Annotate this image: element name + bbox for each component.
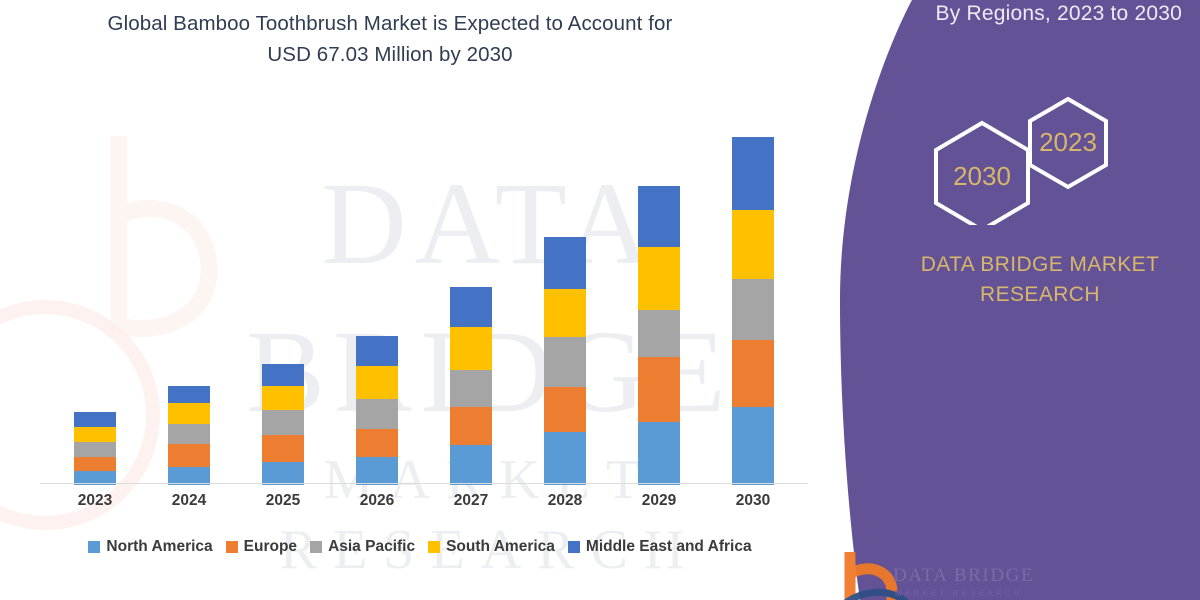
legend-swatch-icon xyxy=(568,541,580,553)
hexagon-logo-group: 2023 2030 xyxy=(920,95,1140,225)
x-axis-label-2027: 2027 xyxy=(424,492,518,510)
legend-label: North America xyxy=(106,538,212,556)
bar-segment[interactable] xyxy=(638,247,680,310)
stacked-bar-2027[interactable] xyxy=(450,287,492,485)
legend-swatch-icon xyxy=(428,541,440,553)
stacked-bar-2024[interactable] xyxy=(168,386,210,485)
stacked-bar-group xyxy=(48,95,800,485)
bar-segment[interactable] xyxy=(544,289,586,337)
legend-swatch-icon xyxy=(310,541,322,553)
x-axis-line xyxy=(40,483,808,484)
brand-name: DATA BRIDGE MARKET RESEARCH xyxy=(880,250,1200,311)
x-axis-label-2023: 2023 xyxy=(48,492,142,510)
legend-label: Middle East and Africa xyxy=(586,538,752,556)
brand-name-line-1: DATA BRIDGE MARKET xyxy=(880,250,1200,280)
legend-label: South America xyxy=(446,538,555,556)
chart-plot-area xyxy=(48,95,800,485)
bar-segment[interactable] xyxy=(638,422,680,485)
bar-segment[interactable] xyxy=(356,457,398,485)
chart-title-line-1: Global Bamboo Toothbrush Market is Expec… xyxy=(60,8,720,39)
bar-segment[interactable] xyxy=(356,336,398,366)
bar-segment[interactable] xyxy=(638,186,680,247)
bar-segment[interactable] xyxy=(168,403,210,423)
x-axis-labels: 20232024202520262027202820292030 xyxy=(48,492,800,510)
chart-title-line-2: USD 67.03 Million by 2030 xyxy=(60,39,720,70)
bar-segment[interactable] xyxy=(168,424,210,444)
legend-item[interactable]: Middle East and Africa xyxy=(568,538,752,556)
x-axis-label-2029: 2029 xyxy=(612,492,706,510)
bar-segment[interactable] xyxy=(356,429,398,457)
logo-text: DATA BRIDGE xyxy=(893,565,1034,587)
x-axis-label-2028: 2028 xyxy=(518,492,612,510)
legend-label: Europe xyxy=(244,538,297,556)
legend-swatch-icon xyxy=(226,541,238,553)
bar-segment[interactable] xyxy=(638,357,680,422)
chart-title: Global Bamboo Toothbrush Market is Expec… xyxy=(60,8,720,70)
x-axis-label-2025: 2025 xyxy=(236,492,330,510)
bar-segment[interactable] xyxy=(544,432,586,485)
x-axis-label-2024: 2024 xyxy=(142,492,236,510)
hexagon-2030-label: 2030 xyxy=(953,161,1011,191)
bar-segment[interactable] xyxy=(732,407,774,485)
bar-segment[interactable] xyxy=(732,137,774,210)
bar-slot xyxy=(142,95,236,485)
bar-segment[interactable] xyxy=(450,370,492,407)
bar-slot xyxy=(518,95,612,485)
panel-heading: By Regions, 2023 to 2030 xyxy=(936,2,1182,26)
logo-subtext: MARKET RESEARCH xyxy=(895,589,1023,598)
stacked-bar-2025[interactable] xyxy=(262,364,304,485)
x-axis-label-2026: 2026 xyxy=(330,492,424,510)
legend-item[interactable]: Europe xyxy=(226,538,297,556)
bar-segment[interactable] xyxy=(74,412,116,427)
legend-label: Asia Pacific xyxy=(328,538,415,556)
bar-slot xyxy=(612,95,706,485)
legend-item[interactable]: North America xyxy=(88,538,212,556)
bar-segment[interactable] xyxy=(544,387,586,432)
bar-slot xyxy=(706,95,800,485)
bar-segment[interactable] xyxy=(262,462,304,485)
bar-segment[interactable] xyxy=(732,340,774,407)
legend-item[interactable]: Asia Pacific xyxy=(310,538,415,556)
bar-segment[interactable] xyxy=(450,287,492,327)
stacked-bar-2029[interactable] xyxy=(638,186,680,485)
bar-segment[interactable] xyxy=(356,399,398,429)
bar-segment[interactable] xyxy=(262,364,304,386)
legend-swatch-icon xyxy=(88,541,100,553)
bar-segment[interactable] xyxy=(732,279,774,340)
bar-slot xyxy=(48,95,142,485)
bar-segment[interactable] xyxy=(638,310,680,357)
stacked-bar-2030[interactable] xyxy=(732,137,774,485)
bar-segment[interactable] xyxy=(450,407,492,445)
stacked-bar-2026[interactable] xyxy=(356,336,398,485)
stacked-bar-2028[interactable] xyxy=(544,237,586,485)
bar-segment[interactable] xyxy=(544,337,586,387)
x-axis-label-2030: 2030 xyxy=(706,492,800,510)
bar-segment[interactable] xyxy=(168,444,210,467)
brand-name-line-2: RESEARCH xyxy=(880,280,1200,310)
bar-segment[interactable] xyxy=(450,445,492,485)
bar-segment[interactable] xyxy=(74,442,116,457)
bar-segment[interactable] xyxy=(262,410,304,435)
bar-slot xyxy=(236,95,330,485)
bar-segment[interactable] xyxy=(356,366,398,398)
hexagon-2023-label: 2023 xyxy=(1039,127,1097,157)
legend-item[interactable]: South America xyxy=(428,538,555,556)
bar-segment[interactable] xyxy=(544,237,586,289)
bar-segment[interactable] xyxy=(262,435,304,462)
bar-segment[interactable] xyxy=(732,210,774,279)
bar-segment[interactable] xyxy=(450,327,492,370)
bar-segment[interactable] xyxy=(262,386,304,410)
bar-segment[interactable] xyxy=(168,386,210,403)
bar-segment[interactable] xyxy=(74,427,116,442)
chart-legend: North AmericaEuropeAsia PacificSouth Ame… xyxy=(40,538,800,556)
bar-slot xyxy=(330,95,424,485)
stacked-bar-2023[interactable] xyxy=(74,412,116,485)
bar-slot xyxy=(424,95,518,485)
bar-segment[interactable] xyxy=(74,457,116,471)
